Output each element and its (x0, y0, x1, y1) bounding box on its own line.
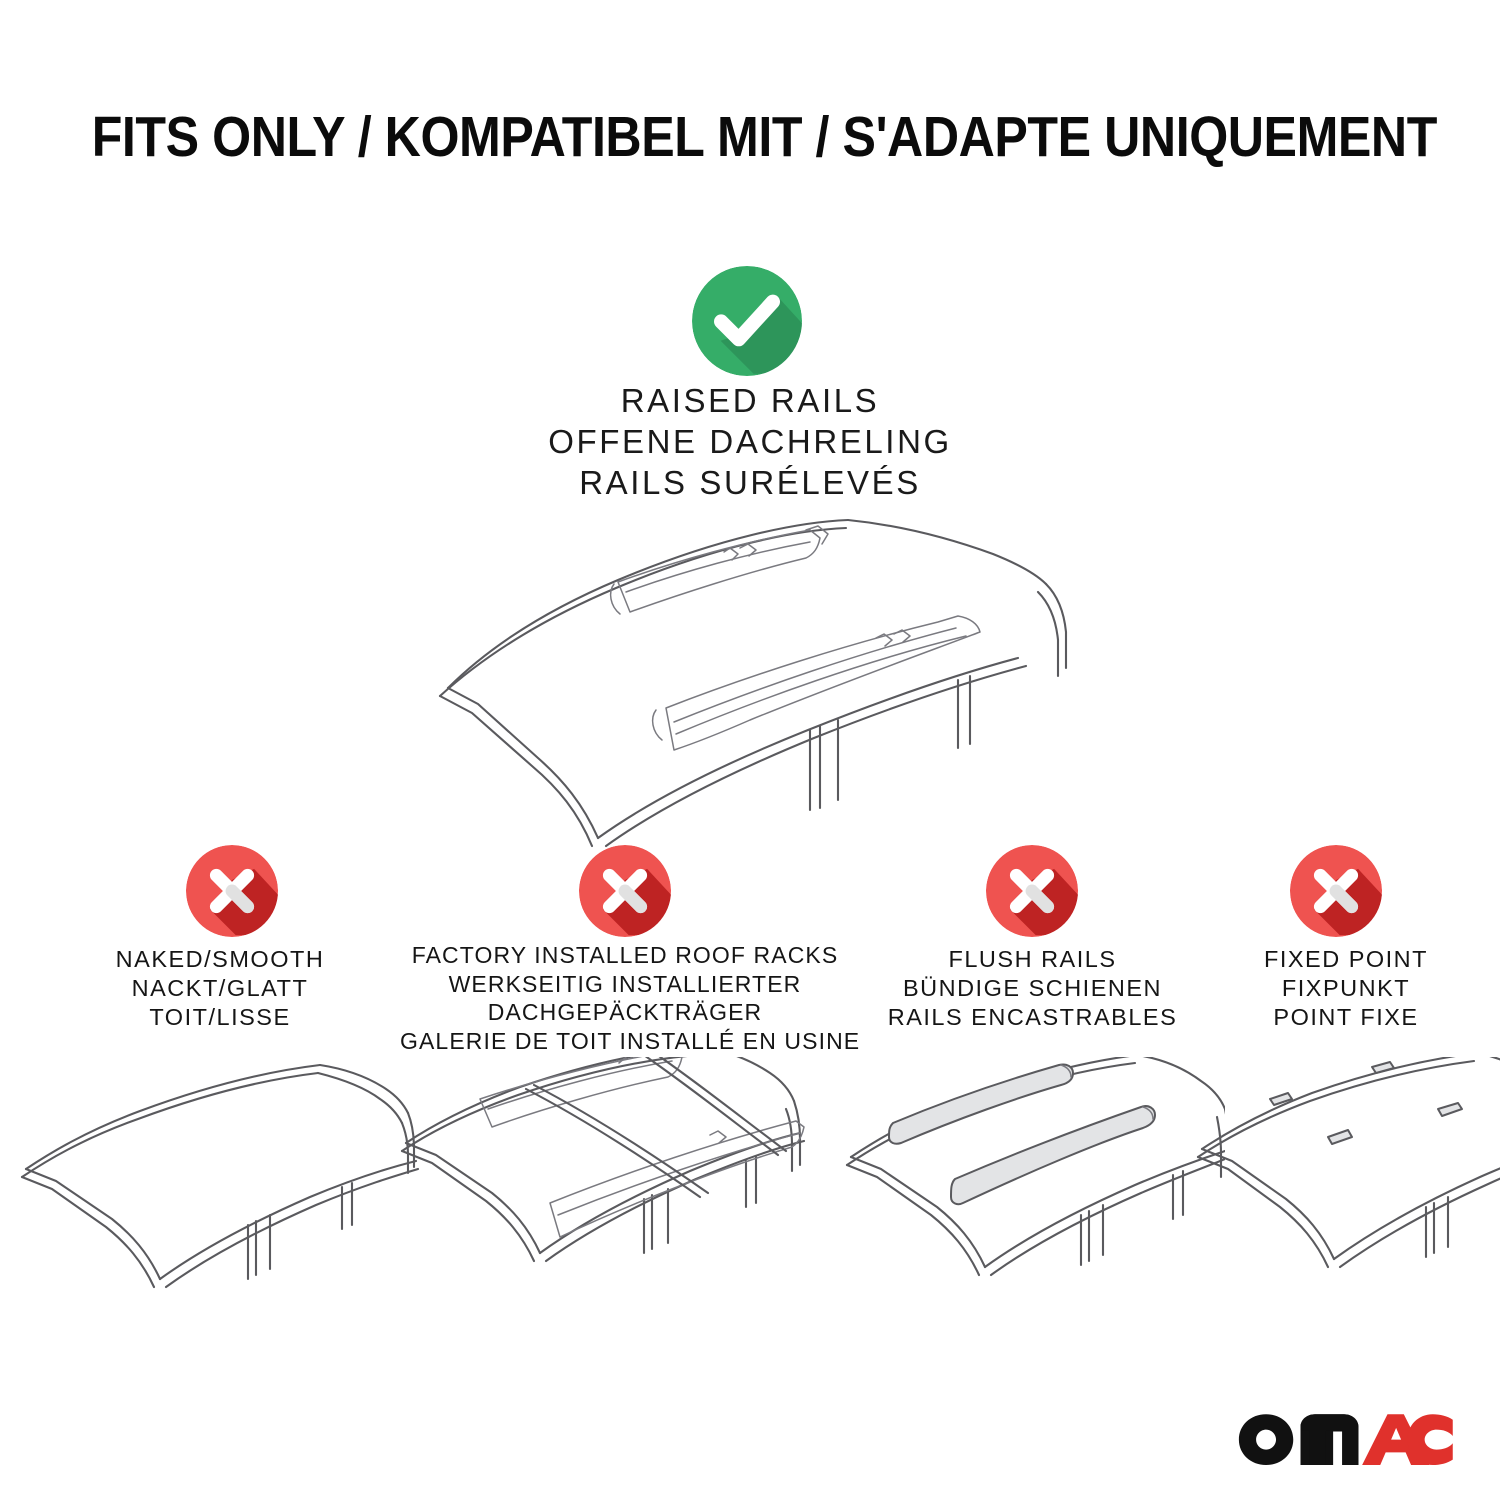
compatible-label-de: OFFENE DACHRELING (0, 421, 1500, 462)
label-line: GALERIE DE TOIT INSTALLÉ EN USINE (400, 1027, 850, 1056)
omac-logo (1230, 1406, 1458, 1466)
label-line: NACKT/GLATT (20, 974, 420, 1003)
label-line: WERKSEITIG INSTALLIERTER (400, 970, 850, 999)
page-title-bar: FITS ONLY / KOMPATIBEL MIT / S'ADAPTE UN… (0, 104, 1500, 170)
car-roof-bare-diagram (20, 1057, 420, 1307)
label-line: NAKED/SMOOTH (20, 945, 420, 974)
label-line: RAILS ENCASTRABLES (845, 1003, 1220, 1032)
label-line: FLUSH RAILS (845, 945, 1220, 974)
incompatible-labels-flush-rails: FLUSH RAILS BÜNDIGE SCHIENEN RAILS ENCAS… (845, 945, 1220, 1032)
x-circle-icon (579, 845, 671, 937)
incompatible-column-flush-rails: FLUSH RAILS BÜNDIGE SCHIENEN RAILS ENCAS… (845, 845, 1220, 1485)
car-roof-with-raised-rails-diagram (418, 508, 1108, 848)
compatible-label-fr: RAILS SURÉLEVÉS (0, 462, 1500, 503)
car-roof-with-factory-crossbars-diagram (400, 1057, 850, 1307)
label-line: TOIT/LISSE (20, 1003, 420, 1032)
incompatible-labels-fixed-point: FIXED POINT FIXPUNKT POINT FIXE (1196, 945, 1496, 1032)
incompatible-column-naked-smooth: NAKED/SMOOTH NACKT/GLATT TOIT/LISSE (20, 845, 420, 1485)
label-line: DACHGEPÄCKTRÄGER (400, 998, 850, 1027)
incompatible-labels-factory-roof-racks: FACTORY INSTALLED ROOF RACKS WERKSEITIG … (400, 941, 850, 1055)
page-title: FITS ONLY / KOMPATIBEL MIT / S'ADAPTE UN… (92, 104, 1437, 170)
compatible-label-en: RAISED RAILS (0, 380, 1500, 421)
car-roof-with-fixed-points-diagram (1196, 1057, 1496, 1307)
label-line: FIXED POINT (1196, 945, 1496, 974)
label-line: BÜNDIGE SCHIENEN (845, 974, 1220, 1003)
incompatible-column-fixed-point: FIXED POINT FIXPUNKT POINT FIXE (1196, 845, 1496, 1485)
incompatible-labels-naked-smooth: NAKED/SMOOTH NACKT/GLATT TOIT/LISSE (20, 945, 420, 1032)
incompatible-column-factory-roof-racks: FACTORY INSTALLED ROOF RACKS WERKSEITIG … (400, 845, 850, 1485)
x-circle-icon (186, 845, 278, 937)
check-circle-icon (692, 266, 802, 376)
label-line: POINT FIXE (1196, 1003, 1496, 1032)
fitment-infographic: { "header": { "title": "FITS ONLY / KOMP… (0, 0, 1500, 1500)
x-circle-icon (986, 845, 1078, 937)
compatible-labels: RAISED RAILS OFFENE DACHRELING RAILS SUR… (0, 380, 1500, 503)
car-roof-with-flush-rails-diagram (845, 1057, 1220, 1307)
label-line: FIXPUNKT (1196, 974, 1496, 1003)
x-circle-icon (1290, 845, 1382, 937)
label-line: FACTORY INSTALLED ROOF RACKS (400, 941, 850, 970)
